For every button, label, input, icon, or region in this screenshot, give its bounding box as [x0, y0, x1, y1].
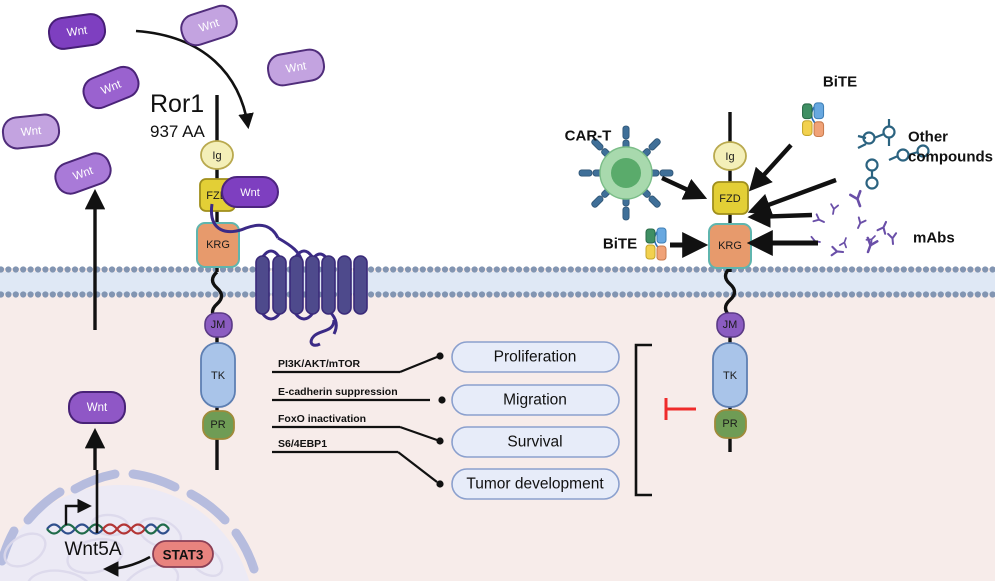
gene-label: Wnt5A — [64, 539, 121, 560]
wnt-ligand-label: Wnt — [197, 17, 220, 35]
mabs-label: mAbs — [913, 230, 955, 247]
other-compounds-line2: compounds — [908, 149, 993, 166]
stat3-node: STAT3 — [153, 541, 213, 567]
wnt-ligand-label: Wnt — [71, 164, 94, 182]
wnt-ligand-label: Wnt — [99, 78, 122, 97]
ror1-name: Ror1 — [150, 90, 204, 118]
domain-jm-label: JM — [211, 319, 226, 331]
bound-wnt-label: Wnt — [240, 187, 260, 199]
bite-top-label: BiTE — [823, 74, 857, 91]
target-domain-krg-label: KRG — [718, 240, 742, 252]
outcome-label-2: Survival — [507, 434, 562, 451]
target-domain-tk-label: TK — [723, 370, 738, 382]
wnt-ligand: Wnt — [68, 391, 126, 424]
outcome-label-3: Tumor development — [466, 476, 604, 493]
domain-pr-label: PR — [210, 419, 225, 431]
bite-left-label: BiTE — [603, 236, 637, 253]
target-domain-pr-label: PR — [722, 418, 737, 430]
domain-tk-label: TK — [211, 370, 226, 382]
target-domain-jm-label: JM — [723, 319, 738, 331]
domain-ig-label: Ig — [212, 150, 221, 162]
wnt-ligand-label: Wnt — [20, 124, 42, 138]
wnt-ligand-label: Wnt — [285, 60, 307, 75]
target-domain-fzd-label: FZD — [719, 193, 740, 205]
domain-krg-label: KRG — [206, 239, 230, 251]
pathway-label-1: E-cadherin suppression — [278, 386, 398, 398]
outcome-label-1: Migration — [503, 392, 567, 409]
stat3-label: STAT3 — [163, 548, 204, 563]
pathway-label-2: FoxO inactivation — [278, 413, 366, 425]
wnt-ligand-label: Wnt — [66, 24, 88, 39]
car-t-label: CAR-T — [565, 128, 612, 145]
mabs-arrow-upper — [752, 215, 812, 217]
outcome-label-0: Proliferation — [494, 349, 577, 366]
pathway-label-0: PI3K/AKT/mTOR — [278, 358, 360, 370]
ror1-length: 937 AA — [150, 122, 205, 141]
plasma-membrane — [0, 266, 995, 297]
pathway-label-3: S6/4EBP1 — [278, 438, 327, 450]
other-compounds-line1: Other — [908, 129, 948, 146]
target-domain-ig-label: Ig — [725, 151, 734, 163]
wnt-ligand-label: Wnt — [87, 402, 107, 414]
figure-canvas: Wnt5A STAT3 Ig FZD KRG JM — [0, 0, 995, 581]
pathway-diagram: Wnt5A STAT3 Ig FZD KRG JM — [0, 0, 995, 581]
